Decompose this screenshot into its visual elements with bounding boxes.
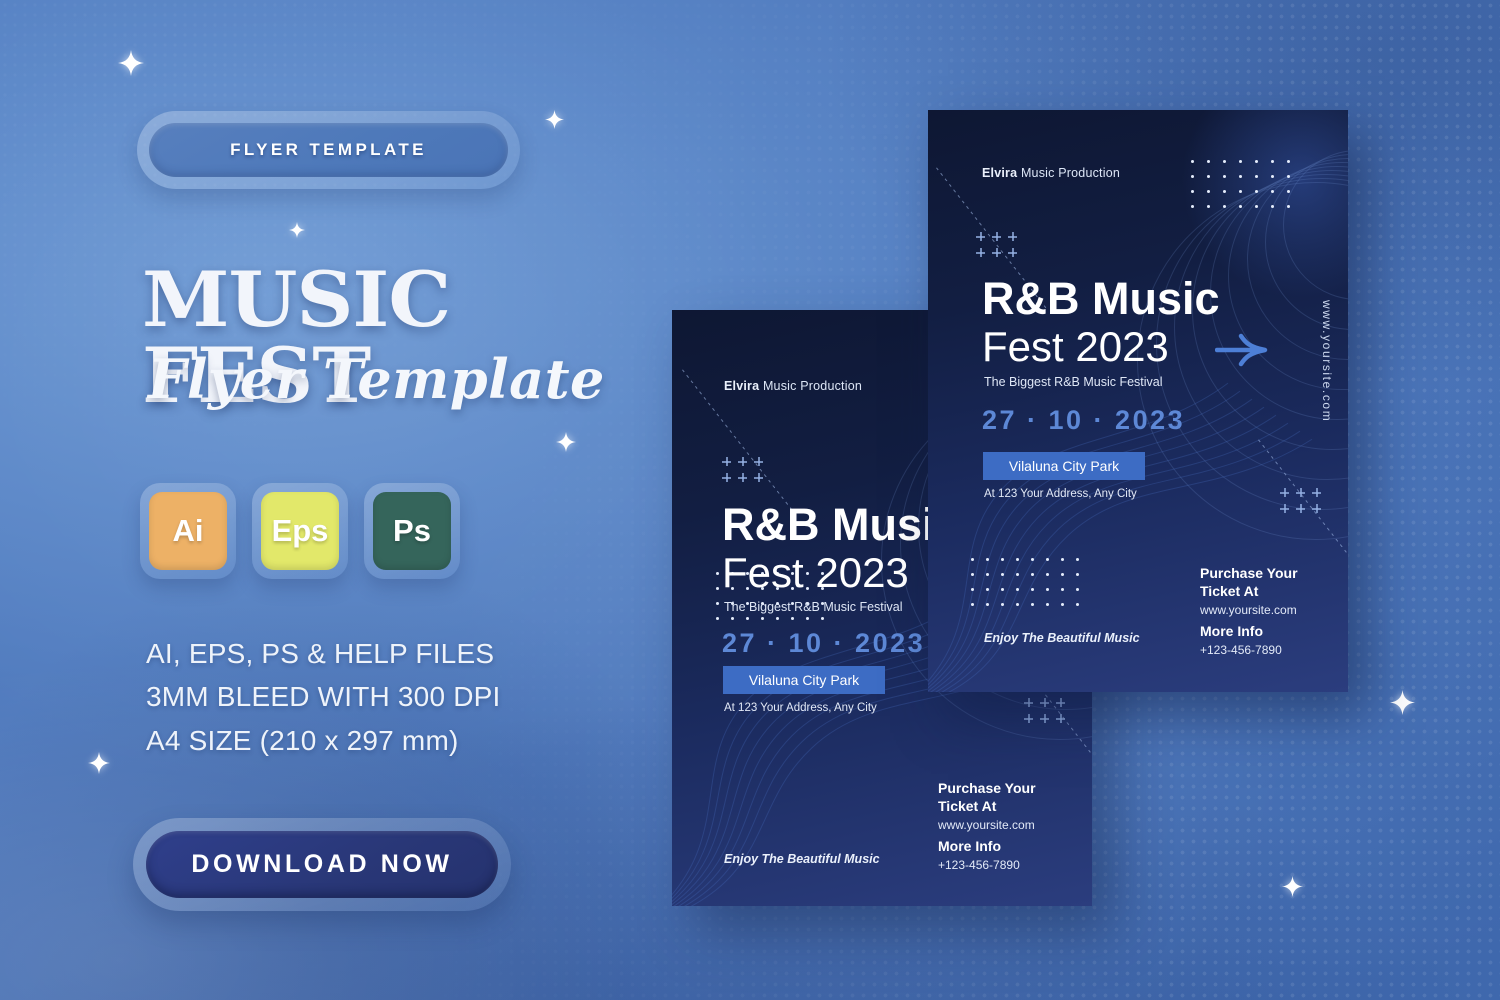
plus-grid-decoration — [722, 457, 763, 482]
flyer-title-line2: Fest 2023 — [982, 326, 1169, 368]
flyer-subtitle: The Biggest R&B Music Festival — [984, 375, 1163, 389]
flyer-tagline: Enjoy The Beautiful Music — [724, 852, 880, 866]
flyer-date: 27 · 10 · 2023 — [982, 405, 1185, 436]
flyer-tagline: Enjoy The Beautiful Music — [984, 631, 1140, 645]
plus-grid-decoration — [1280, 488, 1321, 513]
badge-eps[interactable]: Eps — [252, 483, 348, 579]
flyer-website[interactable]: www.yoursite.com — [1200, 603, 1297, 617]
arrow-right-icon — [1215, 332, 1269, 368]
flyer-address: At 123 Your Address, Any City — [724, 702, 877, 714]
page-subtitle: Flyer Template — [148, 352, 605, 406]
flyer-phone: +123-456-7890 — [1200, 643, 1282, 657]
flyer-template-pill: FLYER TEMPLATE — [137, 111, 520, 189]
flyer-brand-rest: Music Production — [759, 379, 862, 393]
flyer-template-label: FLYER TEMPLATE — [230, 140, 427, 160]
flyer-template-pill-inner: FLYER TEMPLATE — [149, 123, 508, 177]
flyer-address: At 123 Your Address, Any City — [984, 488, 1137, 500]
flyer-vertical-website: www.yoursite.com — [1320, 300, 1334, 422]
plus-grid-decoration — [976, 232, 1017, 257]
badge-ai-inner: Ai — [149, 492, 227, 570]
flyer-website[interactable]: www.yoursite.com — [938, 818, 1035, 832]
badge-ai[interactable]: Ai — [140, 483, 236, 579]
flyer-more-info-heading: More Info — [938, 838, 1001, 856]
flyer-title-line1: R&B Musi — [722, 502, 935, 547]
flyer-brand: Elvira Music Production — [982, 166, 1120, 180]
download-now-button[interactable]: DOWNLOAD NOW — [133, 818, 511, 911]
dot-grid-decoration — [1191, 160, 1303, 220]
feature-item: A4 SIZE (210 x 297 mm) — [146, 719, 500, 762]
feature-item: 3MM BLEED WITH 300 DPI — [146, 675, 500, 718]
flyer-venue-badge[interactable]: Vilaluna City Park — [983, 452, 1145, 480]
promo-mockup-canvas: FLYER TEMPLATE MUSIC FEST Flyer Template… — [0, 0, 1500, 1000]
flyer-brand-bold: Elvira — [724, 379, 759, 393]
badge-ps[interactable]: Ps — [364, 483, 460, 579]
download-now-button-inner[interactable]: DOWNLOAD NOW — [146, 831, 498, 898]
badge-eps-inner: Eps — [261, 492, 339, 570]
plus-grid-decoration — [1024, 698, 1065, 723]
file-format-badges: Ai Eps Ps — [140, 483, 460, 579]
sparkle-icon — [1390, 690, 1415, 715]
badge-ps-inner: Ps — [373, 492, 451, 570]
download-now-label: DOWNLOAD NOW — [191, 850, 452, 879]
flyer-date: 27 · 10 · 2023 — [722, 628, 925, 659]
feature-list: AI, EPS, PS & HELP FILES 3MM BLEED WITH … — [146, 632, 500, 762]
flyer-brand-bold: Elvira — [982, 166, 1017, 180]
flyer-venue-badge[interactable]: Vilaluna City Park — [723, 666, 885, 694]
flyer-subtitle: The Biggest R&B Music Festival — [724, 600, 903, 614]
promo-column: FLYER TEMPLATE MUSIC FEST Flyer Template… — [0, 0, 620, 1000]
flyer-purchase-heading: Purchase Your Ticket At — [938, 780, 1036, 815]
sparkle-icon — [1282, 876, 1303, 897]
flyer-purchase-heading: Purchase Your Ticket At — [1200, 565, 1298, 600]
dot-grid-decoration — [971, 558, 1091, 618]
flyer-brand-rest: Music Production — [1017, 166, 1120, 180]
flyer-brand: Elvira Music Production — [724, 379, 862, 393]
flyer-more-info-heading: More Info — [1200, 623, 1263, 641]
feature-item: AI, EPS, PS & HELP FILES — [146, 632, 500, 675]
flyer-phone: +123-456-7890 — [938, 858, 1020, 872]
flyer-title-line2: Fest 2023 — [722, 552, 909, 594]
flyer-preview-front[interactable]: Elvira Music Production www.yoursite.com… — [928, 110, 1348, 692]
flyer-title-line1: R&B Music — [982, 276, 1220, 321]
